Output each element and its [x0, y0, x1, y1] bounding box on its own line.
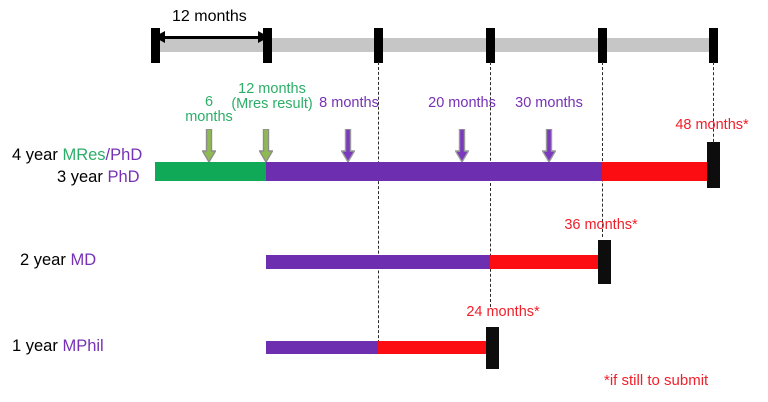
row-label-phd-4year: 4 year: [12, 146, 62, 164]
footnote-if-still-to-submit: *if still to submit: [604, 372, 708, 389]
callout-12-months: 12 months (Mres result): [207, 82, 337, 112]
bar-mphil-red-segment: [378, 341, 486, 354]
row-label-phd-mres: MRes: [62, 146, 105, 164]
arrow-6-months: [202, 129, 216, 163]
row-label-md: 2 year MD: [20, 251, 96, 270]
bar-md-purple-segment: [266, 255, 490, 269]
bar-phd-end-marker: [707, 142, 720, 188]
bar-phd-mres-segment: [155, 162, 266, 181]
guide-line-60m: [713, 62, 714, 147]
arrow-30-months: [542, 129, 556, 163]
bar-phd-red-segment: [602, 162, 707, 181]
callout-8-months: 8 months: [319, 96, 379, 111]
bar-phd-purple-segment: [266, 162, 602, 181]
ruler-tick-60: [709, 28, 718, 63]
twelve-month-span-arrow: [155, 36, 268, 39]
ruler-track: [155, 38, 715, 52]
callout-30-months: 30 months: [515, 96, 583, 111]
row-label-phd-3year: 3 year: [57, 168, 107, 186]
row-label-phd-line1: 4 year MRes/PhD: [12, 146, 142, 165]
callout-36-months: 36 months*: [564, 218, 637, 233]
bar-mphil-purple-segment: [266, 341, 378, 354]
callout-6-months-line2: months: [169, 110, 249, 125]
row-label-phd-phd: PhD: [107, 168, 139, 186]
arrow-20-months: [455, 129, 469, 163]
row-label-phd-slashphd: /PhD: [106, 146, 143, 164]
row-label-mphil-mphil: MPhil: [62, 337, 103, 355]
row-label-mphil: 1 year MPhil: [12, 337, 104, 356]
bar-md-end-marker: [598, 240, 611, 284]
callout-48-months: 48 months*: [675, 118, 748, 133]
bar-md-red-segment: [490, 255, 598, 269]
ruler-tick-48: [598, 28, 607, 63]
callout-12-months-line2: (Mres result): [207, 97, 337, 112]
arrow-8-months: [341, 129, 355, 163]
guide-line-48m: [602, 62, 603, 237]
callout-20-months: 20 months: [428, 96, 496, 111]
row-label-md-2year: 2 year: [20, 251, 70, 269]
callout-24-months: 24 months*: [466, 305, 539, 320]
timeline-figure: 12 months 6 months 12 months (Mres resul…: [0, 0, 768, 402]
twelve-month-span-label: 12 months: [172, 8, 247, 26]
ruler-tick-36: [486, 28, 495, 63]
row-label-phd-line2: 3 year PhD: [57, 168, 140, 187]
row-label-mphil-1year: 1 year: [12, 337, 62, 355]
ruler-tick-24: [374, 28, 383, 63]
callout-12-months-line1: 12 months: [207, 82, 337, 97]
row-label-md-md: MD: [70, 251, 96, 269]
bar-mphil-end-marker: [486, 327, 499, 369]
arrow-12-months: [259, 129, 273, 163]
